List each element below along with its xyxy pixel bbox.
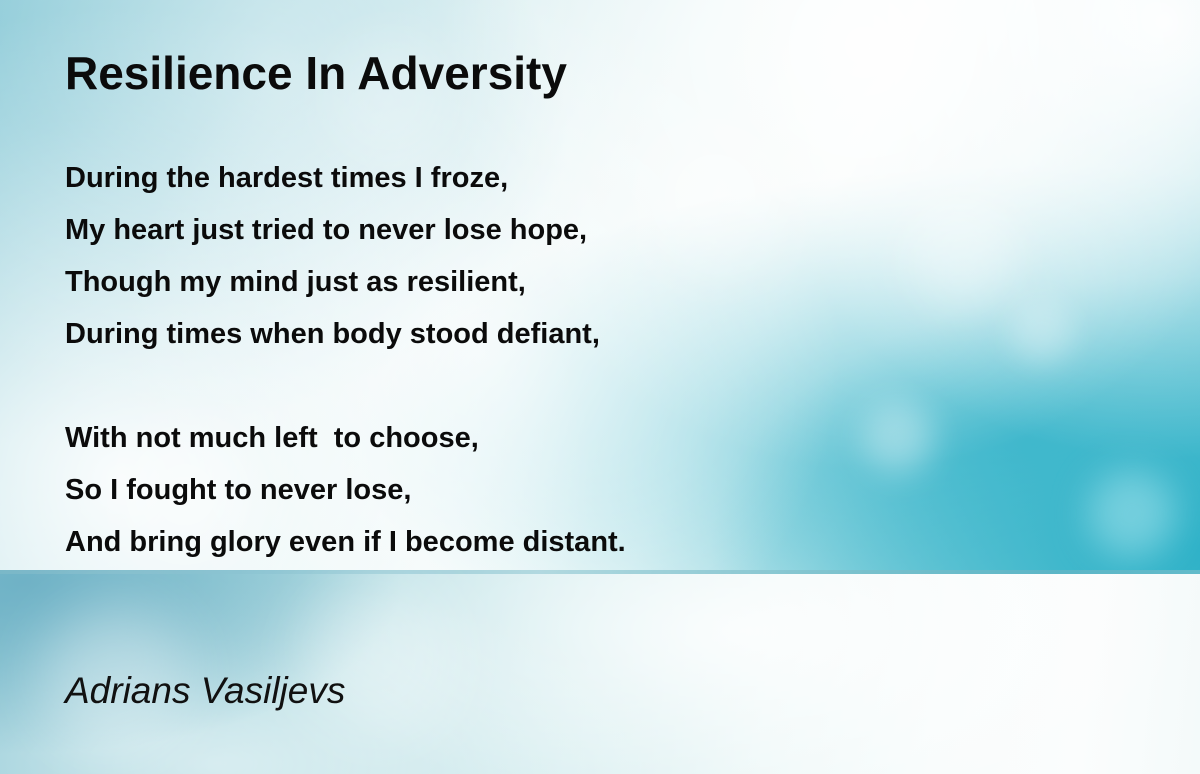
poem-line: During the hardest times I froze, xyxy=(65,152,1125,204)
poem-line: Though my mind just as resilient, xyxy=(65,256,1125,308)
poem-line: My heart just tried to never lose hope, xyxy=(65,204,1125,256)
poem-line: And bring glory even if I become distant… xyxy=(65,516,1125,568)
poem-content: Resilience In Adversity During the harde… xyxy=(0,0,1200,774)
poem-line: With not much left to choose, xyxy=(65,412,1125,464)
poem-author: Adrians Vasiljevs xyxy=(65,672,345,709)
poem-card: Resilience In Adversity During the harde… xyxy=(0,0,1200,774)
poem-title: Resilience In Adversity xyxy=(65,50,567,96)
poem-line: So I fought to never lose, xyxy=(65,464,1125,516)
poem-body: During the hardest times I froze, My hea… xyxy=(65,152,1125,568)
poem-stanza-break xyxy=(65,360,1125,412)
poem-line: During times when body stood defiant, xyxy=(65,308,1125,360)
